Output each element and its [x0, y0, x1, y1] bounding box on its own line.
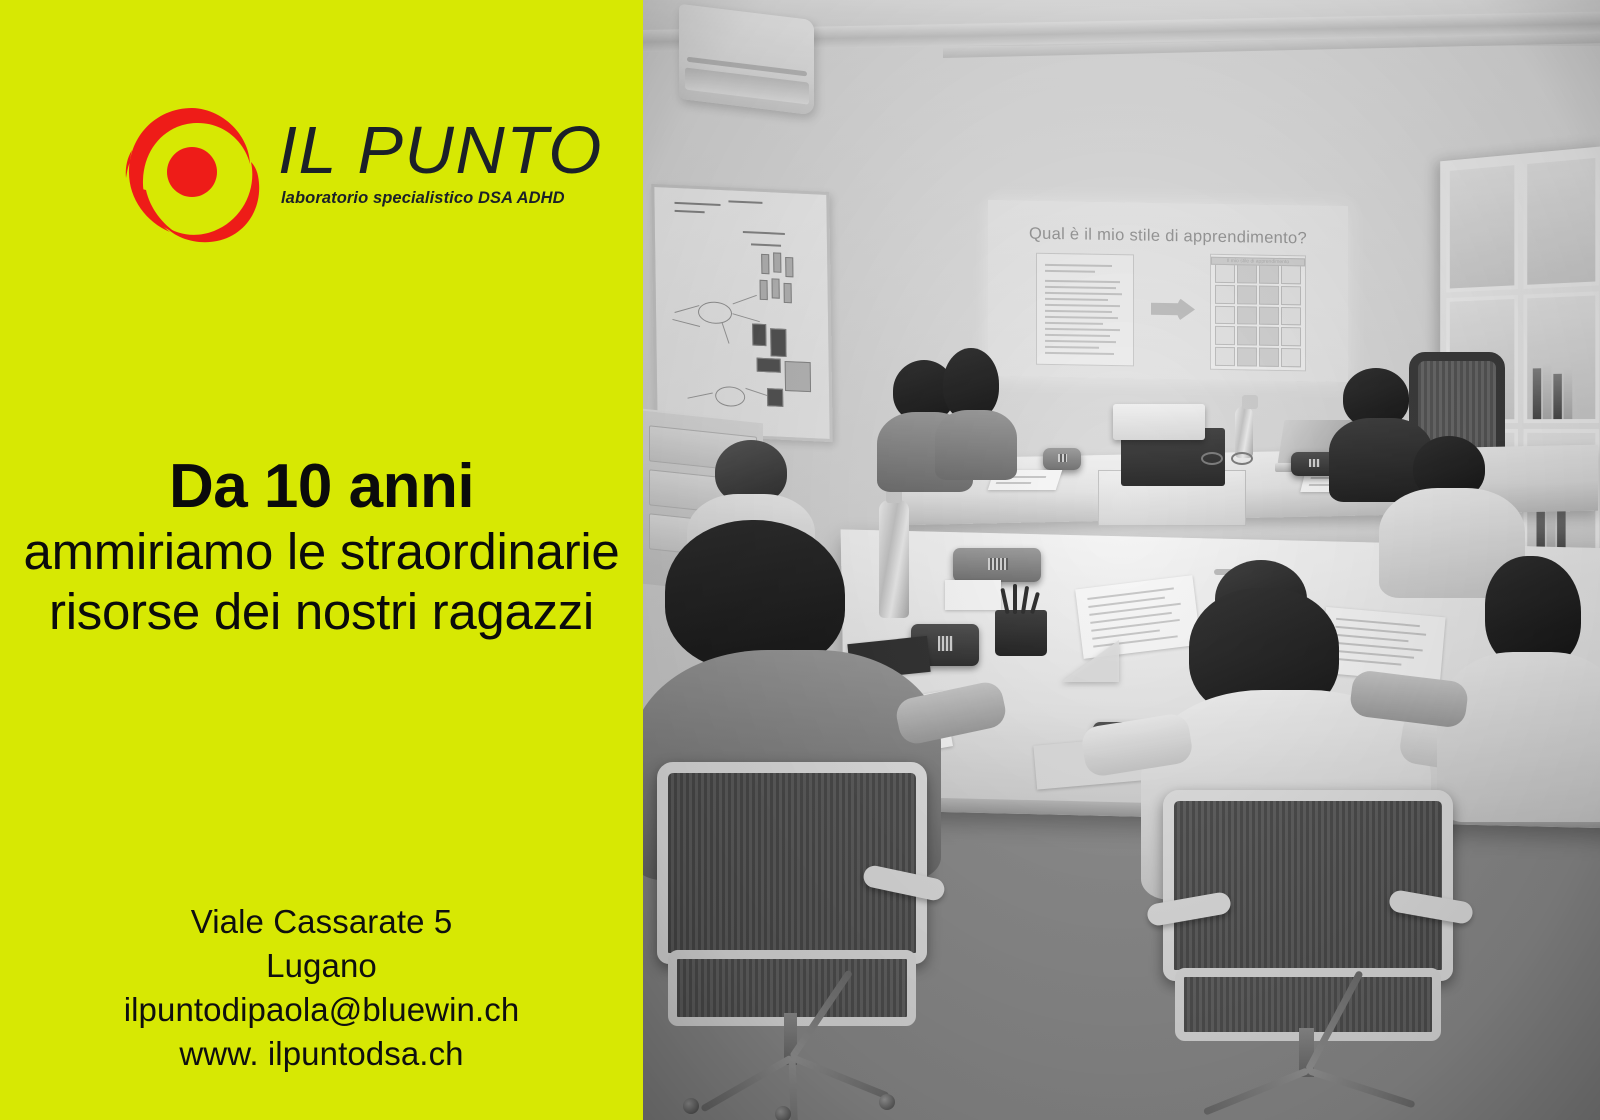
projector: [1113, 404, 1205, 440]
contact-city: Lugano: [0, 944, 643, 988]
air-conditioner-unit: [679, 4, 814, 116]
whiteboard: [651, 184, 832, 442]
triangle-ruler: [1061, 640, 1119, 682]
poster-root: IL PUNTO laboratorio specialistico DSA A…: [0, 0, 1600, 1120]
logo-title: IL PUNTO: [278, 120, 603, 182]
logo-wordmark: IL PUNTO laboratorio specialistico DSA A…: [278, 120, 597, 208]
contact-street: Viale Cassarate 5: [0, 900, 643, 944]
container-box: [945, 580, 1001, 610]
slide-learning-style-grid: Il mio stile di apprendimento: [1210, 254, 1306, 372]
slide-arrow-icon: [1151, 296, 1195, 323]
projection-screen: Qual è il mio stile di apprendimento? Il…: [988, 200, 1348, 382]
slide-title: Qual è il mio stile di apprendimento?: [988, 224, 1348, 249]
water-bottle-main: [879, 500, 909, 618]
headline-block: Da 10 anni ammiriamo le straordinarie ri…: [0, 455, 643, 643]
headline-line-3: risorse dei nostri ragazzi: [0, 582, 643, 642]
headline-line-2: ammiriamo le straordinarie: [0, 522, 643, 582]
left-yellow-panel: IL PUNTO laboratorio specialistico DSA A…: [0, 0, 643, 1120]
slide-grid-caption: Il mio stile di apprendimento: [1211, 257, 1305, 267]
logo-tagline: laboratorio specialistico DSA ADHD: [281, 189, 565, 208]
contact-block: Viale Cassarate 5 Lugano ilpuntodipaola@…: [0, 900, 643, 1076]
pen-holder: [995, 610, 1047, 656]
contact-email[interactable]: ilpuntodipaola@bluewin.ch: [0, 988, 643, 1032]
headline-lead: Da 10 anni: [0, 455, 643, 518]
office-chair-foreground-left: [657, 762, 927, 1110]
classroom-photo: Qual è il mio stile di apprendimento? Il…: [643, 0, 1600, 1120]
eyeglasses: [1201, 452, 1257, 466]
office-chair-foreground-center: [1163, 790, 1453, 1120]
water-bottle-far: [1235, 406, 1253, 458]
headline-body: ammiriamo le straordinarie risorse dei n…: [0, 522, 643, 642]
contact-website[interactable]: www. ilpuntodsa.ch: [0, 1032, 643, 1076]
brand-logo: IL PUNTO laboratorio specialistico DSA A…: [118, 100, 597, 248]
enso-brush-circle-logo-icon: [118, 100, 266, 248]
pencil-case-top: [953, 548, 1041, 582]
slide-document-thumbnail: [1036, 253, 1134, 367]
pencil-case-far-left: [1043, 448, 1081, 470]
